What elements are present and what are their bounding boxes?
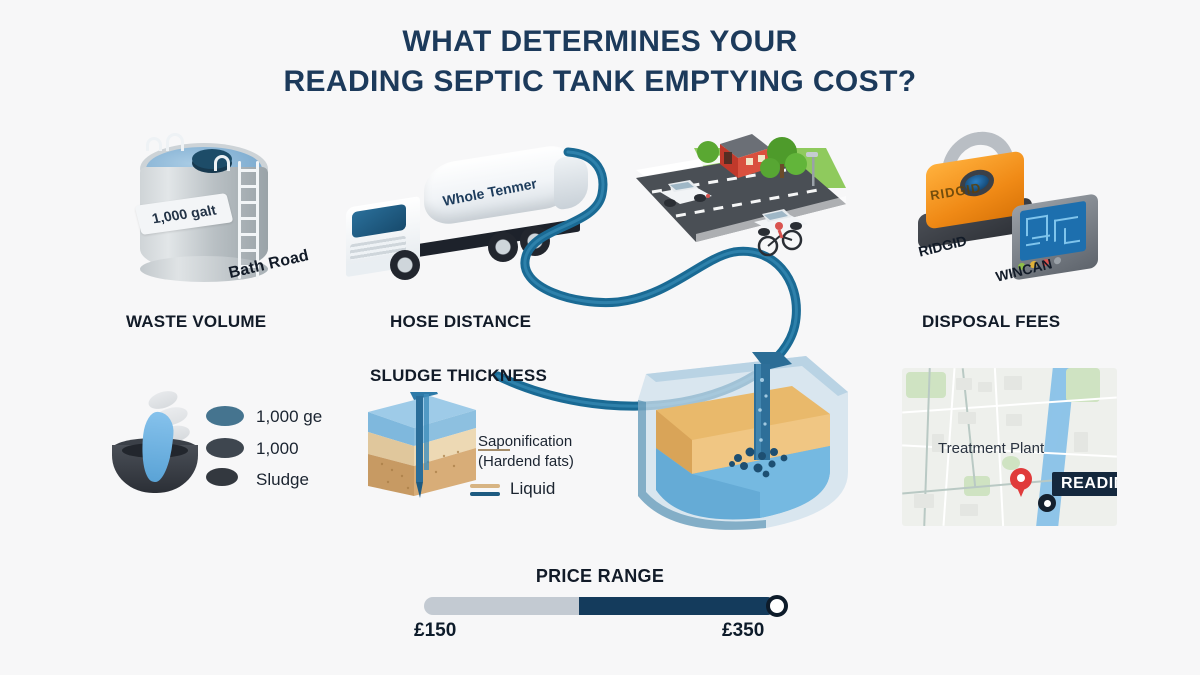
slider-thumb[interactable] <box>766 595 788 617</box>
legend-dot <box>206 406 244 426</box>
tank-cross-section-icon <box>616 352 866 537</box>
legend-dot <box>206 468 238 486</box>
title-line-1: WHAT DETERMINES YOUR <box>402 25 797 58</box>
page-title: WHAT DETERMINES YOUR READING SEPTIC TANK… <box>0 22 1200 102</box>
treatment-plant-map[interactable]: Treatment Plant READING <box>902 368 1117 526</box>
price-max-label: £350 <box>722 620 764 642</box>
price-range-slider[interactable] <box>424 597 776 615</box>
map-block <box>956 378 972 390</box>
legend-label: 1,000 ge <box>256 407 322 427</box>
price-min-label: £150 <box>414 620 456 642</box>
liquid-swatch-top <box>470 484 500 488</box>
map-park <box>1066 368 1100 402</box>
tank-pipe-icon <box>166 133 184 151</box>
tank-pipe-icon <box>146 137 162 151</box>
title-line-2: READING SEPTIC TANK EMPTYING COST? <box>0 62 1200 102</box>
liquid-legend-label: Liquid <box>510 478 555 501</box>
map-place-label: Treatment Plant <box>938 440 1044 457</box>
liquid-swatch-bottom <box>470 492 500 496</box>
map-block <box>1004 376 1022 390</box>
saponification-note-line1: Saponification <box>478 432 572 452</box>
slider-fill <box>579 597 776 615</box>
legend-dot <box>206 438 244 458</box>
price-range-title: PRICE RANGE <box>0 566 1200 587</box>
map-road <box>902 397 1117 414</box>
legend-label: 1,000 <box>256 439 299 459</box>
legend-label: Sludge <box>256 470 309 490</box>
map-block <box>958 412 976 424</box>
caption-disposal-fees: DISPOSAL FEES <box>922 312 1060 332</box>
tank-pipe-icon <box>214 155 230 171</box>
sludge-legend-group: 1,000 ge 1,000 Sludge <box>110 390 310 510</box>
caption-waste-volume: WASTE VOLUME <box>126 312 266 332</box>
map-block <box>1006 414 1022 426</box>
street-scene-icon <box>636 130 846 290</box>
map-block <box>914 494 934 508</box>
map-marker-dot[interactable] <box>1038 494 1056 512</box>
map-block <box>960 504 978 516</box>
wincan-screen <box>1020 201 1086 261</box>
map-city-badge: READING <box>1052 472 1117 496</box>
map-block <box>978 382 992 392</box>
caption-hose-distance: HOSE DISTANCE <box>390 312 531 332</box>
caption-sludge-thickness: SLUDGE THICKNESS <box>370 366 547 386</box>
map-block <box>1074 432 1088 452</box>
map-park <box>906 372 946 398</box>
saponification-note-line2: (Hardend fats) <box>478 452 574 472</box>
infographic-canvas: WHAT DETERMINES YOUR READING SEPTIC TANK… <box>0 0 1200 675</box>
map-pin-icon[interactable] <box>1010 468 1032 498</box>
